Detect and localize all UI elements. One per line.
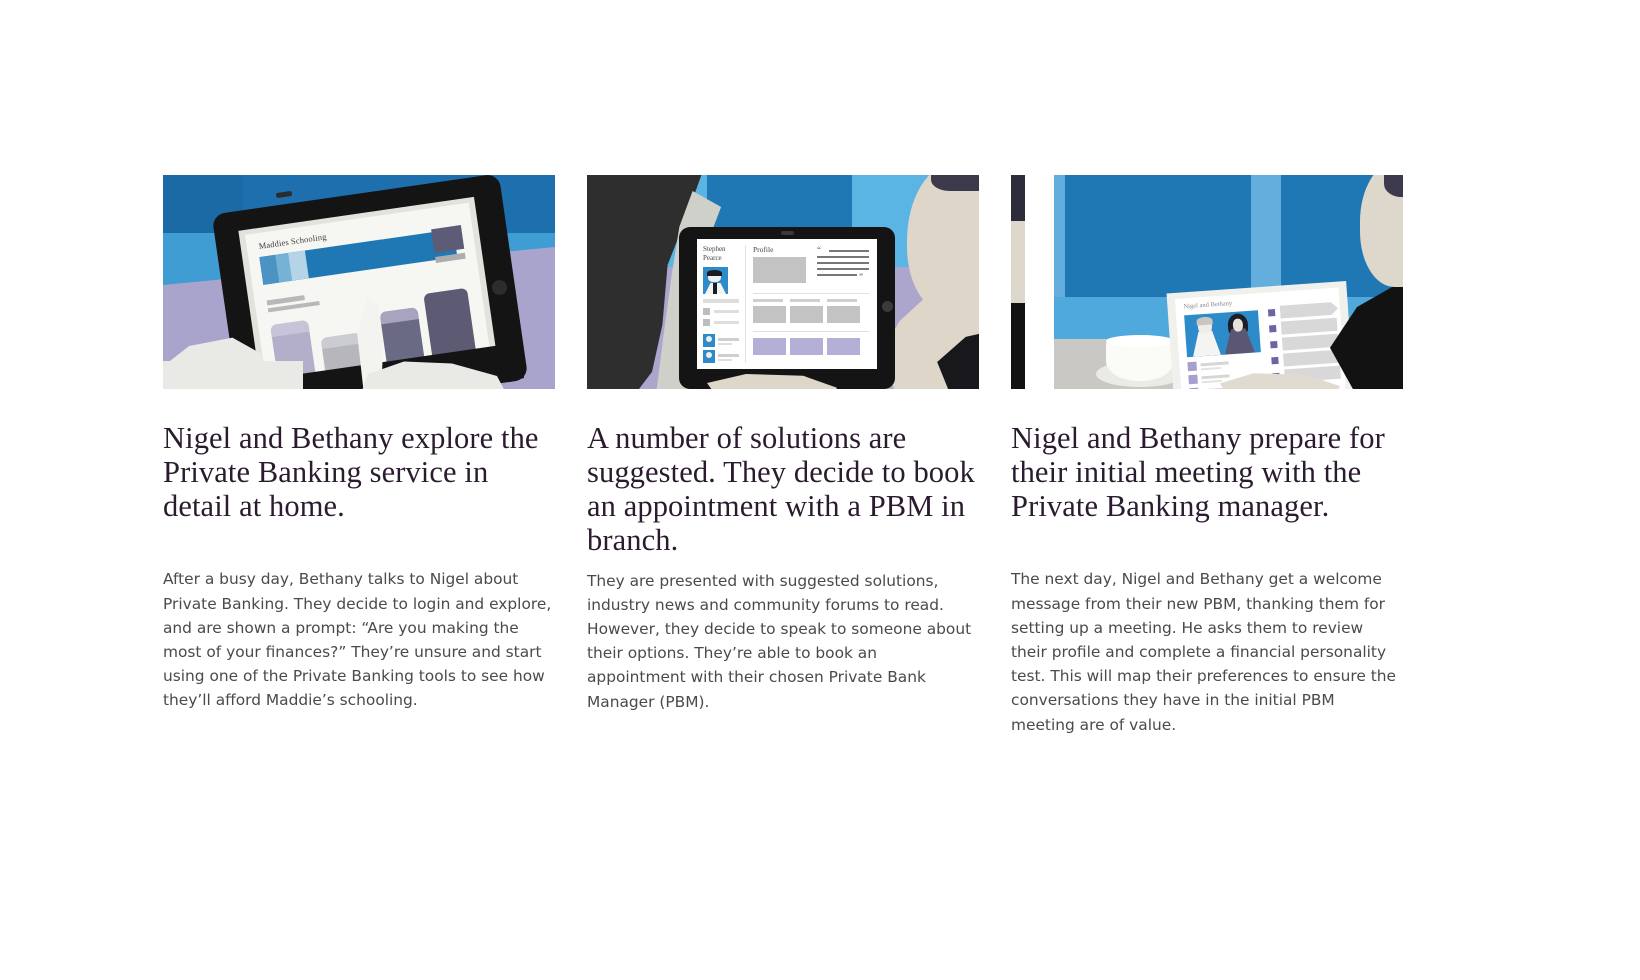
profile-image-placeholder bbox=[753, 257, 806, 283]
quote-close-icon: ” bbox=[859, 272, 863, 282]
section-rule-2 bbox=[753, 331, 869, 332]
column-1-body: After a busy day, Bethany talks to Nigel… bbox=[163, 567, 555, 712]
list-icon-1 bbox=[1187, 362, 1197, 372]
quote-line-4 bbox=[817, 268, 869, 270]
quote-line-5 bbox=[817, 274, 857, 276]
card-gray-1 bbox=[753, 306, 786, 323]
card-purple-2 bbox=[790, 338, 823, 355]
thumbnail-2-line-1 bbox=[718, 354, 739, 357]
couple-photo-person-a-hair bbox=[1196, 316, 1213, 325]
person-right-hair bbox=[931, 175, 979, 191]
screen-person-name: Stephen Pearce bbox=[703, 245, 743, 263]
card-label-2 bbox=[790, 299, 820, 302]
list-label-2 bbox=[1201, 374, 1229, 379]
screen-banner-side-block bbox=[431, 225, 464, 253]
checklist-bullet-4 bbox=[1271, 357, 1278, 364]
sidebar-label-1 bbox=[714, 310, 739, 313]
coffee-cup-rim bbox=[1106, 335, 1174, 347]
illustration-meeting-preparation: Nigel and Bethany bbox=[1011, 175, 1403, 389]
column-3-headline: Nigel and Bethany prepare for their init… bbox=[1011, 421, 1403, 523]
list-icon-3 bbox=[1189, 388, 1199, 389]
sidebar-icon-2 bbox=[703, 319, 710, 326]
sidebar-line-1 bbox=[703, 299, 739, 303]
storyboard-page: Maddies Schooling bbox=[0, 0, 1640, 980]
section-rule-1 bbox=[753, 293, 869, 294]
list-sublabel-2 bbox=[1202, 380, 1222, 383]
storyboard-column-3: Nigel and Bethany bbox=[1011, 175, 1403, 737]
avatar-tie bbox=[713, 283, 717, 294]
thumbnail-1-line-2 bbox=[718, 343, 732, 345]
list-icon-2 bbox=[1188, 375, 1198, 385]
quote-line-1 bbox=[829, 250, 869, 252]
quote-line-2 bbox=[817, 256, 869, 258]
storyboard-column-2: Stephen Pearce bbox=[587, 175, 979, 737]
checklist-row-1 bbox=[1280, 302, 1339, 319]
background-dark-blue-wall bbox=[1054, 175, 1403, 297]
illustration-tablet-at-home: Maddies Schooling bbox=[163, 175, 555, 389]
thumbnail-2-face bbox=[706, 352, 712, 358]
storyboard-columns: Maddies Schooling bbox=[163, 175, 1405, 737]
card-gray-2 bbox=[790, 306, 823, 323]
sidebar-icon-1 bbox=[703, 308, 710, 315]
illustration-tablet-in-branch: Stephen Pearce bbox=[587, 175, 979, 389]
sidebar-label-2 bbox=[714, 321, 739, 324]
left-arm bbox=[163, 361, 303, 389]
tablet-home-button-icon bbox=[882, 301, 893, 312]
background-stripe-left bbox=[1054, 175, 1065, 297]
thumbnail-1-face bbox=[706, 336, 712, 342]
card-purple-3 bbox=[827, 338, 860, 355]
column-3-body: The next day, Nigel and Bethany get a we… bbox=[1011, 567, 1403, 736]
screen-section-title-profile: Profile bbox=[753, 245, 773, 254]
thumbnail-2-line-2 bbox=[718, 359, 732, 361]
quote-open-icon: “ bbox=[817, 245, 821, 255]
card-label-3 bbox=[827, 299, 857, 302]
checklist-bullet-3 bbox=[1270, 341, 1277, 348]
main-scene: Nigel and Bethany bbox=[1054, 175, 1403, 389]
quote-line-3 bbox=[817, 262, 869, 264]
list-label-1 bbox=[1200, 361, 1228, 366]
edge-figure-skin bbox=[1011, 221, 1025, 303]
edge-figure-sliver bbox=[1011, 175, 1025, 389]
checklist-bullet-2 bbox=[1269, 325, 1276, 332]
screen-divider bbox=[745, 245, 746, 363]
thumbnail-1-line-1 bbox=[718, 338, 739, 341]
card-gray-3 bbox=[827, 306, 860, 323]
column-2-body: They are presented with suggested soluti… bbox=[587, 569, 979, 714]
tablet-screen-content: Stephen Pearce bbox=[697, 239, 877, 369]
tablet-camera-icon bbox=[781, 231, 794, 235]
card-purple-1 bbox=[753, 338, 786, 355]
card-label-1 bbox=[753, 299, 783, 302]
list-sublabel-1 bbox=[1201, 367, 1221, 370]
column-1-headline: Nigel and Bethany explore the Private Ba… bbox=[163, 421, 555, 523]
column-2-headline: A number of solutions are suggested. The… bbox=[587, 421, 979, 558]
storyboard-column-1: Maddies Schooling bbox=[163, 175, 555, 737]
edge-figure-clothing bbox=[1011, 303, 1025, 389]
background-stripe-center bbox=[1251, 175, 1281, 297]
checklist-row-4 bbox=[1283, 350, 1340, 367]
couple-photo-person-b-face bbox=[1232, 318, 1243, 332]
screen-title-nigel-and-bethany: Nigel and Bethany bbox=[1183, 300, 1232, 310]
checklist-row-2 bbox=[1281, 318, 1338, 335]
avatar-hair bbox=[707, 270, 722, 276]
checklist-bullet-1 bbox=[1268, 309, 1275, 316]
